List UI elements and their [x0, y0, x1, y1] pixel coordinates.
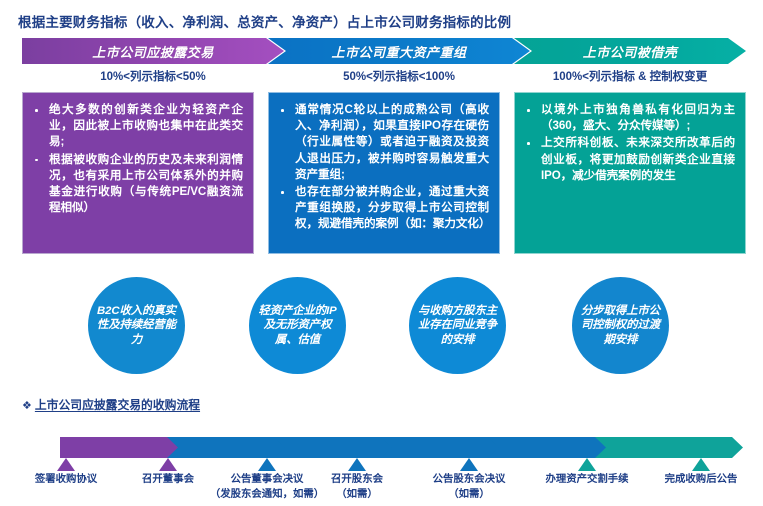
- issue-circle-1[interactable]: B2C收入的真实性及持续经营能力: [88, 277, 185, 374]
- flow-step-1-text: 签署收购协议: [35, 474, 97, 485]
- flow-marker-3: [258, 458, 276, 471]
- flow-section-title-text: 上市公司应披露交易的收购流程: [35, 398, 200, 412]
- page-title: 根据主要财务指标（收入、净利润、总资产、净资产）占上市公司财务指标的比例: [18, 11, 511, 31]
- content-box-2: 通常情况C轮以上的成熟公司（高收入、净利润），如果直接IPO存在硬伤（行业属性等…: [268, 92, 500, 254]
- list-item: 根据被收购企业的历史及未来利润情况，也有采用上市公司体系外的并购基金进行收购（与…: [29, 152, 243, 217]
- list-item: 也存在部分被并购企业，通过重大资产重组换股，分步取得上市公司控制权，规避借壳的案…: [275, 184, 489, 233]
- flow-step-7-text: 完成收购后公告: [665, 474, 738, 485]
- chevron-banner-3[interactable]: 上市公司被借壳: [514, 38, 746, 64]
- issue-circle-2-label: 轻资产企业的IP及无形资产权属、估值: [249, 304, 346, 348]
- flow-step-3-text: 公告董事会决议: [231, 474, 304, 485]
- flow-marker-7: [692, 458, 710, 471]
- chevron-banner-row: 上市公司应披露交易 上市公司重大资产重组 上市公司被借壳: [0, 38, 763, 64]
- flow-step-label-3: 公告董事会决议 （发股东会通知，如需）: [210, 472, 324, 502]
- flow-section-title: ❖上市公司应披露交易的收购流程: [22, 396, 200, 413]
- flow-step-2-text: 召开董事会: [142, 474, 194, 485]
- flow-step-4-sub: （如需）: [331, 487, 383, 502]
- flow-marker-1: [57, 458, 75, 471]
- flow-step-4-text: 召开股东会: [331, 474, 383, 485]
- issue-circle-3-label: 与收购方股东主业存在同业竞争的安排: [409, 304, 506, 348]
- bullet-list-3: 以境外上市独角兽私有化回归为主（360，盛大、分众传媒等）; 上交所科创板、未来…: [521, 102, 735, 184]
- diamond-bullet-icon: ❖: [22, 400, 32, 412]
- list-item: 通常情况C轮以上的成熟公司（高收入、净利润），如果直接IPO存在硬伤（行业属性等…: [275, 102, 489, 183]
- content-box-3: 以境外上市独角兽私有化回归为主（360，盛大、分众传媒等）; 上交所科创板、未来…: [514, 92, 746, 254]
- chevron-banner-1-label: 上市公司应披露交易: [92, 42, 214, 61]
- flow-marker-5: [460, 458, 478, 471]
- flow-segment-6[interactable]: [595, 437, 743, 458]
- flow-step-5-text: 公告股东会决议: [433, 474, 506, 485]
- flow-step-3-sub: （发股东会通知，如需）: [210, 487, 324, 502]
- chevron-banner-1[interactable]: 上市公司应披露交易: [22, 38, 284, 64]
- bullet-list-1: 绝大多数的创新类企业为轻资产企业，因此被上市收购也集中在此类交易; 根据被收购企…: [29, 102, 243, 216]
- flow-marker-4: [348, 458, 366, 471]
- criteria-text-3: 100%<列示指标 & 控制权变更: [514, 68, 746, 84]
- chevron-banner-2-label: 上市公司重大资产重组: [331, 42, 466, 61]
- process-flow-band: [0, 437, 763, 458]
- list-item: 上交所科创板、未来深交所改革后的创业板，将更加鼓励创新类企业直接IPO，减少借壳…: [521, 135, 735, 184]
- flow-marker-6: [578, 458, 596, 471]
- criteria-text-1: 10%<列示指标<50%: [22, 68, 284, 84]
- flow-step-5-sub: （如需）: [433, 487, 506, 502]
- slide-root: 根据主要财务指标（收入、净利润、总资产、净资产）占上市公司财务指标的比例 上市公…: [0, 0, 763, 506]
- flow-step-label-6: 办理资产交割手续: [545, 472, 628, 487]
- issue-circle-4[interactable]: 分步取得上市公司控制权的过渡期安排: [572, 277, 669, 374]
- issue-circle-3[interactable]: 与收购方股东主业存在同业竞争的安排: [409, 277, 506, 374]
- chevron-banner-3-label: 上市公司被借壳: [583, 42, 678, 61]
- chevron-banner-2[interactable]: 上市公司重大资产重组: [268, 38, 530, 64]
- issue-circle-2[interactable]: 轻资产企业的IP及无形资产权属、估值: [249, 277, 346, 374]
- bullet-list-2: 通常情况C轮以上的成熟公司（高收入、净利润），如果直接IPO存在硬伤（行业属性等…: [275, 102, 489, 233]
- issue-circle-4-label: 分步取得上市公司控制权的过渡期安排: [572, 304, 669, 348]
- list-item: 以境外上市独角兽私有化回归为主（360，盛大、分众传媒等）;: [521, 102, 735, 134]
- flow-step-6-text: 办理资产交割手续: [545, 474, 628, 485]
- flow-step-label-4: 召开股东会 （如需）: [331, 472, 383, 502]
- issue-circle-1-label: B2C收入的真实性及持续经营能力: [88, 304, 185, 348]
- flow-step-label-5: 公告股东会决议 （如需）: [433, 472, 506, 502]
- flow-marker-2: [159, 458, 177, 471]
- criteria-text-2: 50%<列示指标<100%: [268, 68, 530, 84]
- list-item: 绝大多数的创新类企业为轻资产企业，因此被上市收购也集中在此类交易;: [29, 102, 243, 151]
- flow-step-label-2: 召开董事会: [142, 472, 194, 487]
- flow-step-label-1: 签署收购协议: [35, 472, 97, 487]
- flow-step-label-7: 完成收购后公告: [665, 472, 738, 487]
- content-box-1: 绝大多数的创新类企业为轻资产企业，因此被上市收购也集中在此类交易; 根据被收购企…: [22, 92, 254, 254]
